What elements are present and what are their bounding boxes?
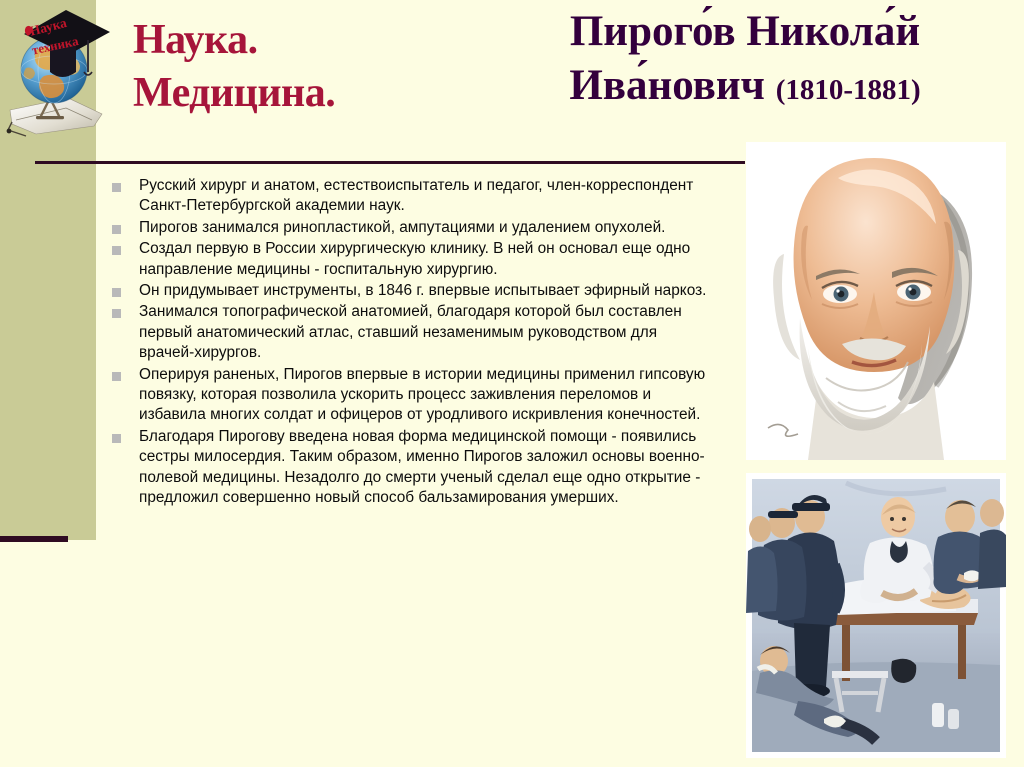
square-bullet-icon [112, 372, 121, 381]
header-divider [35, 161, 745, 164]
list-item: Создал первую в России хирургическую кли… [112, 239, 712, 280]
square-bullet-icon [112, 225, 121, 234]
portrait-pirogov-image [746, 142, 1006, 460]
globe-graduation-cap-logo: Наука техника [6, 2, 114, 142]
list-item-text: Благодаря Пирогову введена новая форма м… [139, 427, 712, 509]
olive-band-bottom-bar [0, 536, 68, 542]
list-item: Оперируя раненых, Пирогов впервые в исто… [112, 365, 712, 426]
page-title-right: Пирого́в Никола́й Ива́нович (1810-1881) [470, 0, 1020, 116]
list-item-text: Занимался топографической анатомией, бла… [139, 302, 712, 363]
list-item-text: Он придумывает инструменты, в 1846 г. вп… [139, 281, 712, 301]
square-bullet-icon [112, 288, 121, 297]
list-item-text: Создал первую в России хирургическую кли… [139, 239, 712, 280]
left-title-line1: Наука. [133, 14, 453, 67]
list-item: Он придумывает инструменты, в 1846 г. вп… [112, 281, 712, 301]
bullet-list: Русский хирург и анатом, естествоиспытат… [112, 176, 712, 510]
square-bullet-icon [112, 309, 121, 318]
square-bullet-icon [112, 183, 121, 192]
page-title-left: Наука. Медицина. [133, 14, 453, 120]
lifespan-years: (1810-1881) [776, 74, 921, 106]
right-title-line2: Ива́нович (1810-1881) [470, 60, 1020, 116]
list-item: Пирогов занимался ринопластикой, ампутац… [112, 218, 712, 238]
list-item-text: Пирогов занимался ринопластикой, ампутац… [139, 218, 712, 238]
list-item: Благодаря Пирогову введена новая форма м… [112, 427, 712, 509]
field-surgery-painting-image [746, 473, 1006, 758]
slide-root: Наука техника Наука. Медицина. Пирого́в … [0, 0, 1024, 767]
right-title-name: Ива́нович [569, 62, 765, 109]
list-item: Занимался топографической анатомией, бла… [112, 302, 712, 363]
list-item: Русский хирург и анатом, естествоиспытат… [112, 176, 712, 217]
square-bullet-icon [112, 246, 121, 255]
square-bullet-icon [112, 434, 121, 443]
list-item-text: Русский хирург и анатом, естествоиспытат… [139, 176, 712, 217]
right-title-line1: Пирого́в Никола́й [470, 0, 1020, 60]
list-item-text: Оперируя раненых, Пирогов впервые в исто… [139, 365, 712, 426]
left-title-line2: Медицина. [133, 67, 453, 120]
